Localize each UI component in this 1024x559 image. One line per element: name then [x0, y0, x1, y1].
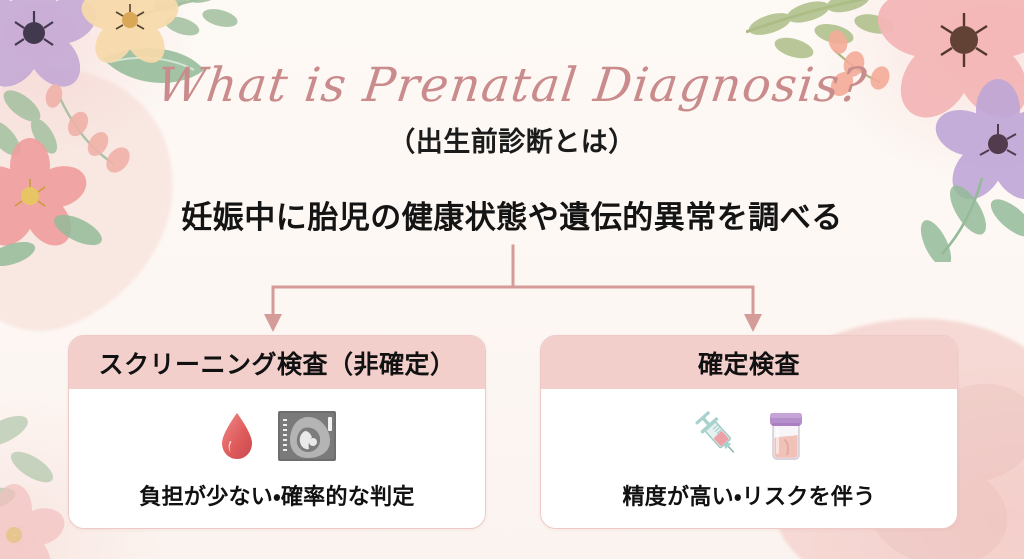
arrow-head-left — [264, 314, 282, 332]
card-diagnostic-header: 確定検査 — [541, 336, 957, 389]
card-diagnostic-caption: 精度が高い・リスクを伴う — [622, 479, 875, 511]
card-diagnostic[interactable]: 確定検査 — [540, 335, 958, 529]
main-statement: 妊娠中に胎児の健康状態や遺伝的異常を調べる — [0, 192, 1024, 237]
card-screening-caption: 負担が少ない・確率的な判定 — [139, 479, 414, 511]
blood-drop-icon — [218, 411, 256, 461]
card-screening-icon-row — [218, 407, 336, 465]
card-screening[interactable]: スクリーニング検査（非確定） — [68, 335, 486, 529]
page-title-subtitle: （出生前診断とは） — [0, 120, 1024, 159]
specimen-jar-icon — [767, 410, 805, 462]
slide-canvas: What is Prenatal Diagnosis? （出生前診断とは） 妊娠… — [0, 0, 1024, 559]
ultrasound-scan-icon — [278, 411, 336, 461]
bracket-connector — [255, 244, 771, 340]
card-diagnostic-icon-row — [693, 407, 805, 465]
card-diagnostic-body: 精度が高い・リスクを伴う — [541, 389, 957, 528]
card-screening-body: 負担が少ない・確率的な判定 — [69, 389, 485, 528]
card-screening-header: スクリーニング検査（非確定） — [69, 336, 485, 389]
arrow-head-right — [744, 314, 762, 332]
page-title-script: What is Prenatal Diagnosis? — [0, 58, 1024, 113]
syringe-icon — [693, 410, 745, 462]
